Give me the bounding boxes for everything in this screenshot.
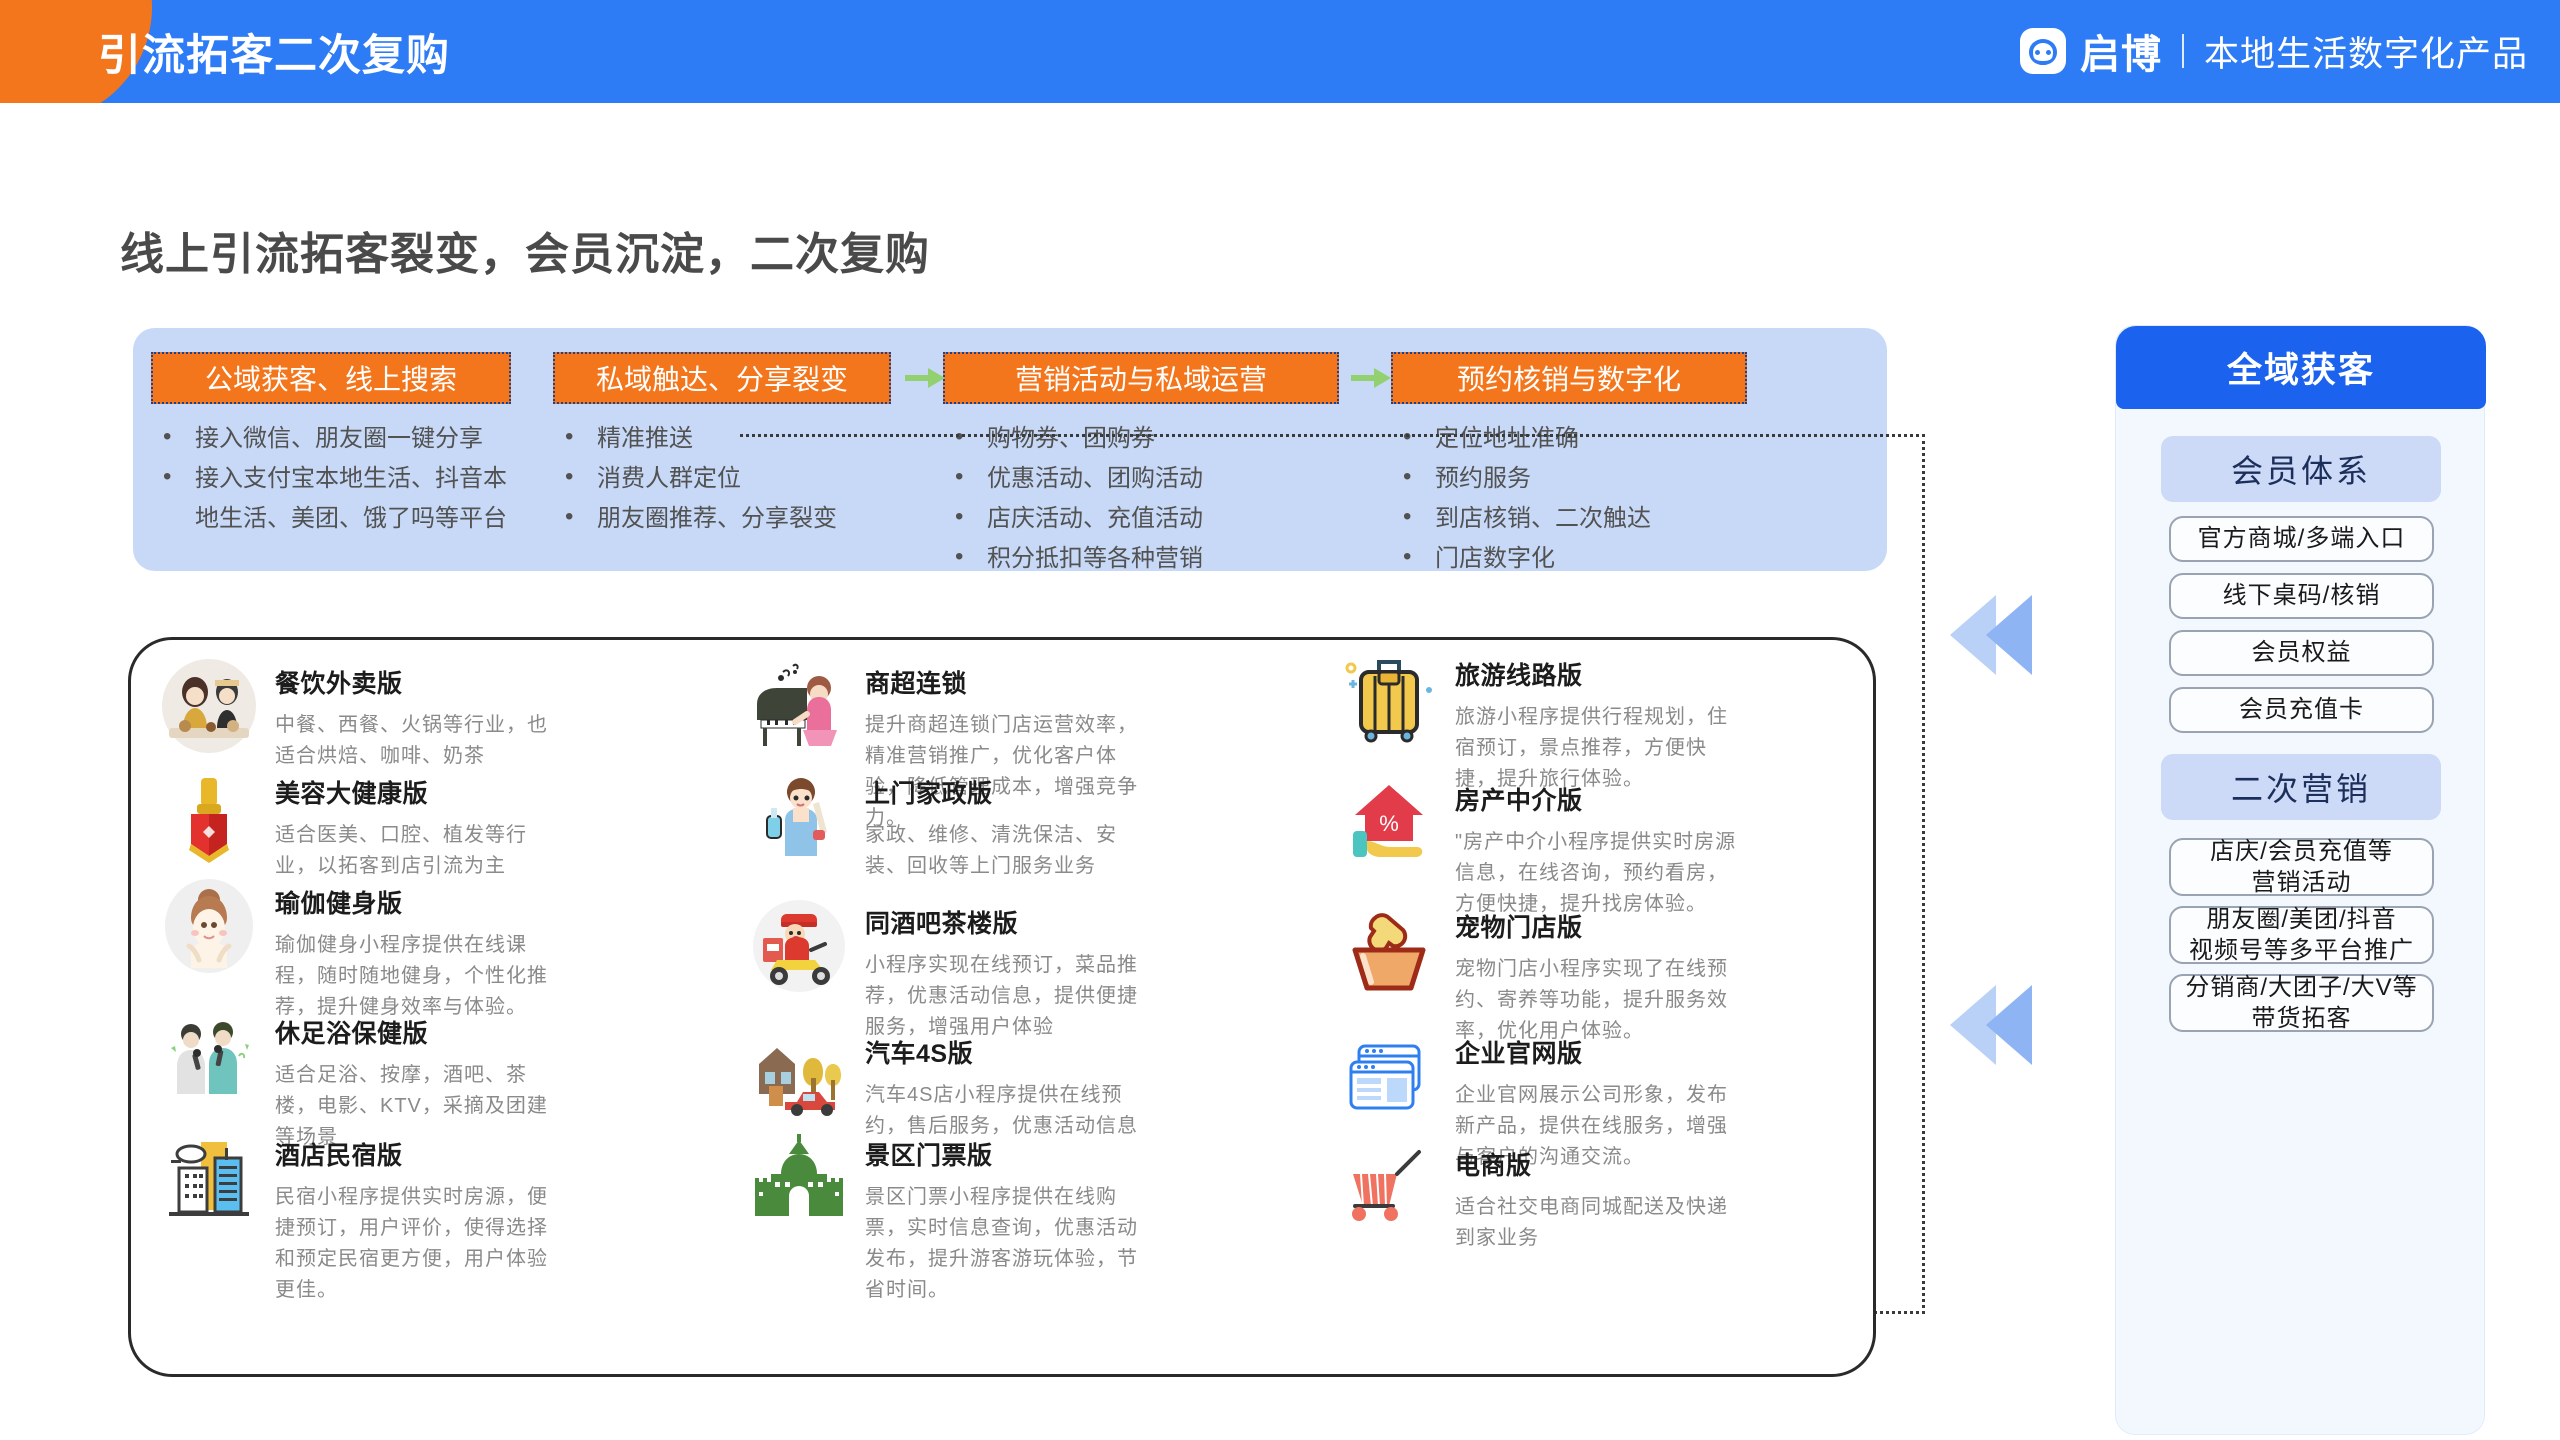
industry-card[interactable]: 汽车4S版汽车4S店小程序提供在线预约，售后服务，优惠活动信息 [751,1028,1151,1142]
flow-arrow-connector [1351,375,1375,381]
pet-bowl-bone-icon [1341,902,1437,998]
industry-card[interactable]: 电商版适合社交电商同城配送及快递到家业务 [1341,1140,1741,1254]
housekeeper-icon [751,768,847,864]
flow-list-item: 朋友圈推荐、分享裂变 [553,502,891,536]
industry-card-title: 同酒吧茶楼版 [865,904,1151,940]
chevron-left-icon [1986,595,2032,675]
industry-card-title: 房产中介版 [1455,781,1741,817]
flow-step-list: 接入微信、朋友圈一键分享 接入支付宝本地生活、抖音本 地生活、美团、饿了吗等平台 [151,422,511,536]
brand-name: 启博 [2080,22,2162,80]
industry-card-title: 宠物门店版 [1455,908,1741,944]
flow-list-item: 预约服务 [1391,462,1747,496]
industry-card-title: 美容大健康版 [275,774,561,810]
industry-card-title: 景区门票版 [865,1136,1151,1172]
sidebar-item[interactable]: 分销商/大团子/大V等 带货拓客 [2169,974,2434,1032]
industry-card-description: 民宿小程序提供实时房源，便捷预订，用户评价，使得选择和预定民宿更方便，用户体验更… [275,1182,561,1306]
slide-root: 引流拓客二次复购 启博 本地生活数字化产品 线上引流拓客裂变，会员沉淀，二次复购… [0,0,2560,1440]
house-percent-hand-icon: % [1341,775,1437,871]
website-windows-icon [1341,1028,1437,1124]
flow-step-list: 购物券、团购券 优惠活动、团购活动 店庆活动、充值活动 积分抵扣等各种营销 [943,422,1339,576]
flow-step-0: 公域获客、线上搜索 接入微信、朋友圈一键分享 接入支付宝本地生活、抖音本 地生活… [151,352,511,542]
flow-list-item: 接入微信、朋友圈一键分享 [151,422,511,456]
flow-step-3: 预约核销与数字化 定位地址准确 预约服务 到店核销、二次触达 门店数字化 [1391,352,1747,582]
industry-card-title: 餐饮外卖版 [275,664,561,700]
chevron-left-icon [1986,985,2032,1065]
sidebar-item[interactable]: 官方商城/多端入口 [2169,516,2434,562]
svg-text:%: % [1379,811,1399,836]
flow-list-item: 到店核销、二次触达 [1391,502,1747,536]
flow-step-chip[interactable]: 私域触达、分享裂变 [553,352,891,404]
flow-list-item: 定位地址准确 [1391,422,1747,456]
brand-lockup: 启博 本地生活数字化产品 [2020,22,2528,80]
suitcase-icon [1341,650,1437,746]
industry-card[interactable]: 景区门票版景区门票小程序提供在线购票，实时信息查询，优惠活动发布，提升游客游玩体… [751,1130,1151,1306]
flow-arrow-connector [905,375,929,381]
industry-card[interactable]: 宠物门店版宠物门店小程序实现了在线预约、寄养等功能，提升服务效率，优化用户体验。 [1341,902,1741,1047]
industry-card-title: 休足浴保健版 [275,1014,561,1050]
car-dealership-icon [751,1028,847,1124]
industry-card[interactable]: 上门家政版家政、维修、清洗保洁、安装、回收等上门服务业务 [751,768,1151,882]
flow-step-list: 定位地址准确 预约服务 到店核销、二次触达 门店数字化 [1391,422,1747,576]
flow-list-item: 地生活、美团、饿了吗等平台 [151,502,511,536]
page-title: 引流拓客二次复购 [98,21,450,83]
section-title: 线上引流拓客裂变，会员沉淀，二次复购 [120,218,930,282]
industry-card[interactable]: 美容大健康版适合医美、口腔、植发等行业，以拓客到店引流为主 [161,768,561,882]
flow-list-item: 精准推送 [553,422,891,456]
qibo-logo-icon [2020,28,2066,74]
industry-card-title: 上门家政版 [865,774,1151,810]
nail-polish-icon [161,768,257,864]
industry-card[interactable]: 旅游线路版旅游小程序提供行程规划，住宿预订，景点推荐，方便快捷，提升旅行体验。 [1341,650,1741,795]
sidebar-item[interactable]: 线下桌码/核销 [2169,573,2434,619]
sidebar-group-header: 二次营销 [2161,754,2441,820]
flow-list-item: 购物券、团购券 [943,422,1339,456]
sidebar-panel: 全域获客 会员体系官方商城/多端入口线下桌码/核销会员权益会员充值卡二次营销店庆… [2115,325,2485,1435]
brand-tagline: 本地生活数字化产品 [2204,26,2528,77]
flow-step-2: 营销活动与私域运营 购物券、团购券 优惠活动、团购活动 店庆活动、充值活动 积分… [943,352,1339,582]
flow-panel: 公域获客、线上搜索 接入微信、朋友圈一键分享 接入支付宝本地生活、抖音本 地生活… [133,328,1887,571]
brand-divider [2182,34,2184,68]
industry-card-title: 酒店民宿版 [275,1136,561,1172]
flow-list-item: 接入支付宝本地生活、抖音本 [151,462,511,496]
industry-card[interactable]: %房产中介版"房产中介小程序提供实时房源信息，在线咨询，预约看房，方便快捷，提升… [1341,775,1741,920]
flow-list-item: 门店数字化 [1391,542,1747,576]
karaoke-duo-icon [161,1008,257,1104]
industry-card-description: 适合社交电商同城配送及快递到家业务 [1455,1192,1741,1254]
piano-girl-icon [751,658,847,754]
flow-step-list: 精准推送 消费人群定位 朋友圈推荐、分享裂变 [553,422,891,536]
industry-card-description: 景区门票小程序提供在线购票，实时信息查询，优惠活动发布，提升游客游玩体验，节省时… [865,1182,1151,1306]
sidebar-item[interactable]: 朋友圈/美团/抖音 视频号等多平台推广 [2169,906,2434,964]
industry-card-description: 家政、维修、清洗保洁、安装、回收等上门服务业务 [865,820,1151,882]
delivery-scooter-icon [751,898,847,994]
hotel-buildings-icon [161,1130,257,1226]
industry-card-title: 电商版 [1455,1146,1741,1182]
sidebar-group-header: 会员体系 [2161,436,2441,502]
header-bullet-dot-icon [53,45,72,64]
industry-card-title: 商超连锁 [865,664,1151,700]
flow-step-chip[interactable]: 营销活动与私域运营 [943,352,1339,404]
sidebar-item[interactable]: 会员充值卡 [2169,687,2434,733]
industry-cards-panel: 餐饮外卖版中餐、西餐、火锅等行业，也适合烘焙、咖啡、奶茶美容大健康版适合医美、口… [128,637,1876,1377]
flow-step-1: 私域触达、分享裂变 精准推送 消费人群定位 朋友圈推荐、分享裂变 [553,352,891,542]
flow-list-item: 积分抵扣等各种营销 [943,542,1339,576]
industry-card[interactable]: 同酒吧茶楼版小程序实现在线预订，菜品推荐，优惠活动信息，提供便捷服务，增强用户体… [751,898,1151,1043]
flow-step-chip[interactable]: 预约核销与数字化 [1391,352,1747,404]
sidebar-item[interactable]: 会员权益 [2169,630,2434,676]
industry-card[interactable]: 餐饮外卖版中餐、西餐、火锅等行业，也适合烘焙、咖啡、奶茶 [161,658,561,772]
industry-card-title: 旅游线路版 [1455,656,1741,692]
industry-card-title: 企业官网版 [1455,1034,1741,1070]
industry-card-description: 中餐、西餐、火锅等行业，也适合烘焙、咖啡、奶茶 [275,710,561,772]
industry-card-title: 瑜伽健身版 [275,884,561,920]
castle-gate-icon [751,1130,847,1226]
sidebar-item[interactable]: 店庆/会员充值等 营销活动 [2169,838,2434,896]
yoga-woman-icon [161,878,257,974]
flow-list-item: 店庆活动、充值活动 [943,502,1339,536]
industry-card-title: 汽车4S版 [865,1034,1151,1070]
sidebar-title: 全域获客 [2116,326,2486,409]
industry-card[interactable]: 酒店民宿版民宿小程序提供实时房源，便捷预订，用户评价，使得选择和预定民宿更方便，… [161,1130,561,1306]
restaurant-diners-icon [161,658,257,754]
shopping-cart-icon [1341,1140,1437,1236]
page-header: 引流拓客二次复购 启博 本地生活数字化产品 [0,0,2560,103]
flow-step-chip[interactable]: 公域获客、线上搜索 [151,352,511,404]
flow-list-item: 消费人群定位 [553,462,891,496]
industry-card[interactable]: 瑜伽健身版瑜伽健身小程序提供在线课程，随时随地健身，个性化推荐，提升健身效率与体… [161,878,561,1023]
flow-list-item: 优惠活动、团购活动 [943,462,1339,496]
industry-card-description: 适合医美、口腔、植发等行业，以拓客到店引流为主 [275,820,561,882]
